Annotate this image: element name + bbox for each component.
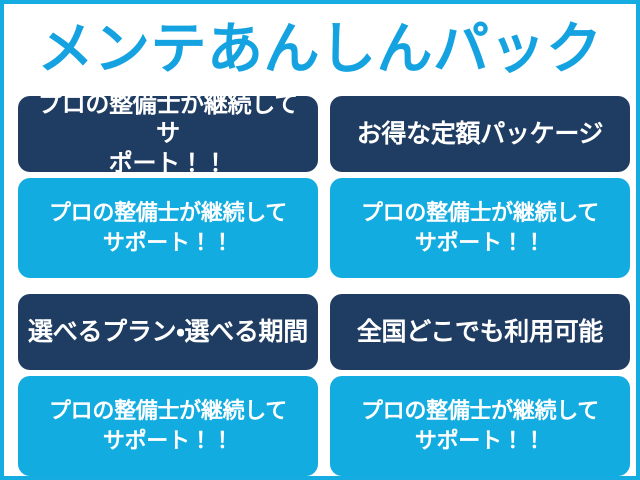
- banner-title: メンテあんしんパック: [4, 12, 636, 86]
- feature-card-3-body: プロの整備士が継続して サポート！！: [18, 376, 318, 476]
- feature-card-1-body: プロの整備士が継続して サポート！！: [18, 178, 318, 278]
- feature-card-1-header: プロの整備士が継続してサ ポート！！: [18, 96, 318, 172]
- feature-card-grid: プロの整備士が継続してサ ポート！！ プロの整備士が継続して サポート！！ お得…: [18, 96, 630, 476]
- feature-card-3: 選べるプラン・選べる期間 プロの整備士が継続して サポート！！: [18, 294, 318, 476]
- feature-card-2: お得な定額パッケージ プロの整備士が継続して サポート！！: [330, 96, 630, 278]
- feature-card-3-header: 選べるプラン・選べる期間: [18, 294, 318, 370]
- feature-card-1: プロの整備士が継続してサ ポート！！ プロの整備士が継続して サポート！！: [18, 96, 318, 278]
- feature-card-4-header: 全国どこでも利用可能: [330, 294, 630, 370]
- maintenance-plan-banner: メンテあんしんパック プロの整備士が継続してサ ポート！！ プロの整備士が継続し…: [0, 0, 640, 480]
- feature-card-2-body: プロの整備士が継続して サポート！！: [330, 178, 630, 278]
- feature-card-4-body: プロの整備士が継続して サポート！！: [330, 376, 630, 476]
- feature-card-4: 全国どこでも利用可能 プロの整備士が継続して サポート！！: [330, 294, 630, 476]
- feature-card-2-header: お得な定額パッケージ: [330, 96, 630, 172]
